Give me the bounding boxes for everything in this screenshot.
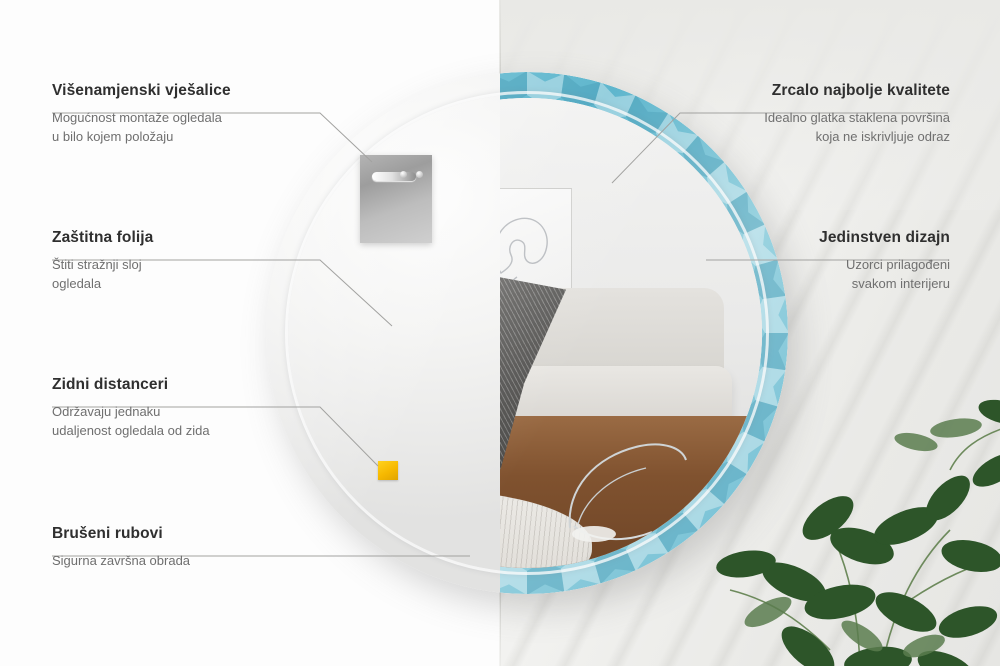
- callout-description: Održavaju jednaku udaljenost ogledala od…: [52, 403, 352, 441]
- infographic-canvas: Višenamjenski vješalice Mogućnost montaž…: [0, 0, 1000, 666]
- callout-foil: Zaštitna folija Štiti stražnji sloj ogle…: [52, 229, 352, 294]
- callout-description: Štiti stražnji sloj ogledala: [52, 256, 352, 294]
- callout-title: Jedinstven dizajn: [650, 229, 950, 247]
- callout-hangers: Višenamjenski vješalice Mogućnost montaž…: [52, 82, 352, 147]
- hanger-screw-icon: [416, 171, 423, 178]
- callout-title: Brušeni rubovi: [52, 525, 352, 543]
- hanger-screw-icon: [400, 171, 407, 178]
- foreground-plant: [710, 350, 1000, 666]
- callout-description: Mogućnost montaže ogledala u bilo kojem …: [52, 109, 352, 147]
- callout-edges: Brušeni rubovi Sigurna završna obrada: [52, 525, 352, 571]
- hanger-slot-icon: [372, 172, 416, 181]
- callout-title: Zidni distanceri: [52, 376, 352, 394]
- callout-title: Zrcalo najbolje kvalitete: [650, 82, 950, 100]
- callout-title: Višenamjenski vješalice: [52, 82, 352, 100]
- callout-glass-quality: Zrcalo najbolje kvalitete Idealno glatka…: [650, 82, 950, 147]
- callout-description: Sigurna završna obrada: [52, 552, 352, 571]
- callout-design: Jedinstven dizajn Uzorci prilagođeni sva…: [650, 229, 950, 294]
- hanger-plate-marker: [360, 155, 432, 243]
- callout-title: Zaštitna folija: [52, 229, 352, 247]
- wall-spacer-marker: [378, 461, 398, 480]
- callout-description: Uzorci prilagođeni svakom interijeru: [650, 256, 950, 294]
- callout-description: Idealno glatka staklena površina koja ne…: [650, 109, 950, 147]
- callout-spacers: Zidni distanceri Održavaju jednaku udalj…: [52, 376, 352, 441]
